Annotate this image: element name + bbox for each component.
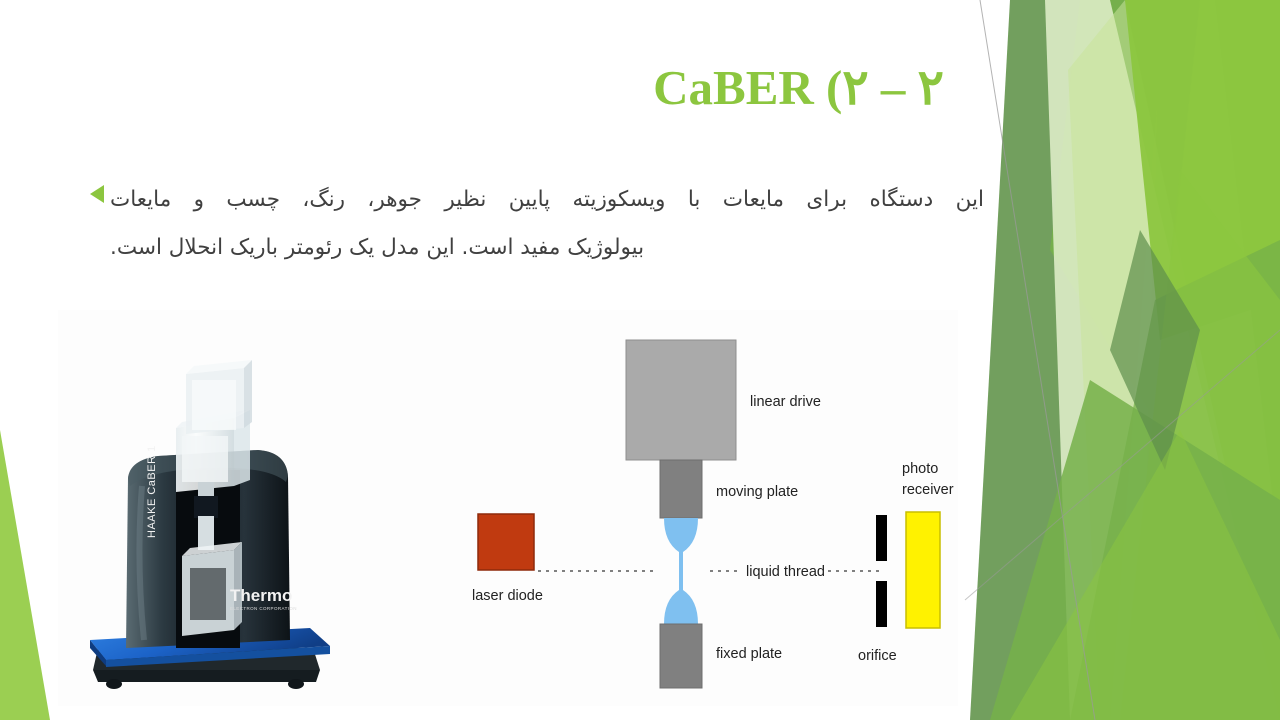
bullet-line-1: این دستگاه برای مایعات با ویسکوزیته پایی… <box>110 187 984 212</box>
label-fixed-plate: fixed plate <box>716 646 782 662</box>
haake-caber-device-photo: HAAKE CaBER 1 Thermo ELECTRON CORPORATIO… <box>58 310 358 706</box>
caber-schematic-diagram: linear drive moving plate liquid thread … <box>458 318 958 698</box>
label-liquid-thread: liquid thread <box>746 564 825 580</box>
facet-theme-graphic-right <box>950 0 1280 720</box>
label-moving-plate: moving plate <box>716 484 798 500</box>
orifice-bar-bottom <box>876 581 887 627</box>
photo-receiver-shape <box>906 512 940 628</box>
label-photo-receiver-line1: photo <box>902 461 938 477</box>
linear-drive-shape <box>626 340 736 460</box>
triangle-bullet-icon <box>84 185 110 203</box>
bullet-item: این دستگاه برای مایعات با ویسکوزیته پایی… <box>78 176 984 271</box>
slide: CaBER (۲ – ۲ این دستگاه برای مایعات با و… <box>0 0 1280 720</box>
liquid-thread-shape <box>664 518 698 624</box>
fixed-plate-shape <box>660 624 702 688</box>
label-photo-receiver-line2: receiver <box>902 482 954 498</box>
label-orifice: orifice <box>858 648 897 664</box>
label-linear-drive: linear drive <box>750 394 821 410</box>
laser-diode-shape <box>478 514 534 570</box>
bullet-paragraph: این دستگاه برای مایعات با ویسکوزیته پایی… <box>110 176 984 271</box>
media-panel: HAAKE CaBER 1 Thermo ELECTRON CORPORATIO… <box>58 310 958 706</box>
label-laser-diode: laser diode <box>472 588 543 604</box>
moving-plate-shape <box>660 460 702 518</box>
orifice-bar-top <box>876 515 887 561</box>
page-title: CaBER (۲ – ۲ <box>80 62 944 114</box>
bullet-line-2: بیولوژیک مفید است. این مدل یک رئومتر بار… <box>110 224 984 272</box>
body-text-block: این دستگاه برای مایعات با ویسکوزیته پایی… <box>78 176 984 271</box>
